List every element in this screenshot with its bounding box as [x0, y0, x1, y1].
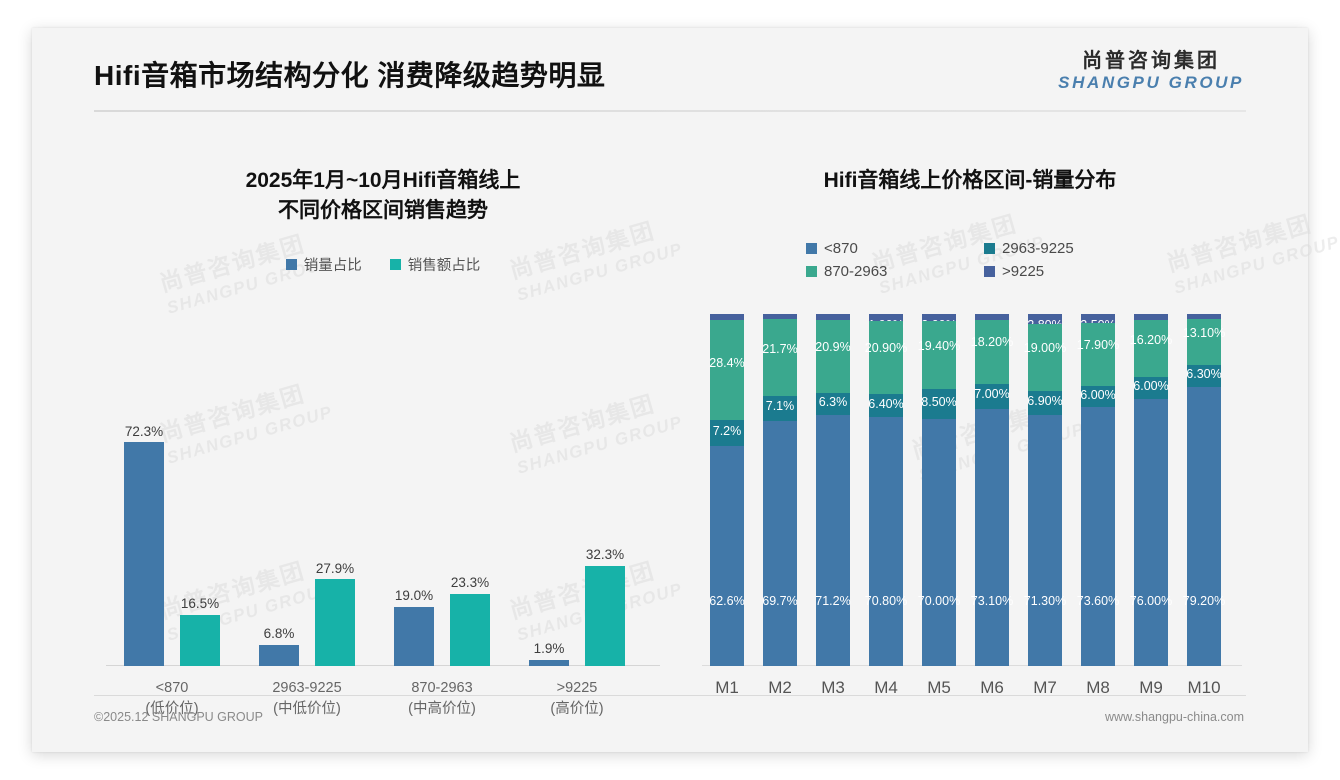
segment-value-label: 6.3%	[819, 395, 848, 409]
segment-2963-9225[interactable]: 8.50%	[922, 389, 956, 419]
segment-value-label: 13.10%	[1183, 326, 1225, 340]
legend-item-gt9225[interactable]: >9225	[984, 263, 1134, 280]
segment-value-label: 17.90%	[1077, 338, 1119, 352]
bar-column[interactable]: 72.3%	[124, 406, 164, 666]
page-title: Hifi音箱市场结构分化 消费降级趋势明显	[94, 54, 605, 94]
legend-swatch-icon	[984, 266, 995, 277]
x-axis-category-sublabel: (中低价位)	[251, 699, 363, 720]
bar-sales-amount[interactable]	[585, 566, 625, 666]
footer-copyright: ©2025.12 SHANGPU GROUP	[94, 710, 263, 724]
slide-header: Hifi音箱市场结构分化 消费降级趋势明显 尚普咨询集团 SHANGPU GRO…	[32, 28, 1308, 116]
right-chart-panel: Hifi音箱线上价格区间-销量分布 <870 2963-9225 870-296…	[694, 136, 1246, 696]
segment-2963-9225[interactable]: 7.00%	[975, 384, 1009, 409]
bar-group: 19.0% 23.3%	[386, 406, 498, 666]
segment-lt870[interactable]: 73.10%	[975, 409, 1009, 666]
segment-value-label: 16.20%	[1130, 333, 1172, 347]
legend-item-870-2963[interactable]: 870-2963	[806, 263, 956, 280]
x-axis-category: >9225 (高价位)	[521, 678, 633, 720]
bar-column[interactable]: 27.9%	[315, 406, 355, 666]
bar-column[interactable]: 16.5%	[180, 406, 220, 666]
segment-value-label: 70.00%	[918, 594, 960, 608]
bar-group: 72.3% 16.5%	[116, 406, 228, 666]
segment-value-label: 76.00%	[1130, 594, 1172, 608]
segment-value-label: 7.2%	[713, 424, 742, 438]
segment-870-2963[interactable]: 19.40%	[922, 321, 956, 389]
segment-value-label: 19.00%	[1024, 341, 1066, 355]
left-chart-title-line2: 不同价格区间销售趋势	[94, 196, 672, 226]
segment-2963-9225[interactable]: 6.90%	[1028, 391, 1062, 415]
legend-label: 870-2963	[824, 263, 887, 280]
bar-column[interactable]: 6.8%	[259, 406, 299, 666]
segment-gt9225[interactable]: 2.00%	[922, 314, 956, 321]
stacked-bar[interactable]: 2.00% 19.40% 8.50% 70.00%	[922, 314, 956, 666]
bar-sales-volume[interactable]	[259, 645, 299, 666]
brand-logo: 尚普咨询集团 SHANGPU GROUP	[1058, 50, 1244, 93]
bar-value-label: 6.8%	[264, 626, 295, 641]
legend-item-lt870[interactable]: <870	[806, 240, 956, 257]
bar-value-label: 32.3%	[586, 547, 624, 562]
segment-value-label: 20.9%	[815, 340, 850, 354]
logo-english-text: SHANGPU GROUP	[1058, 73, 1244, 93]
segment-value-label: 71.2%	[815, 594, 850, 608]
segment-870-2963[interactable]: 18.20%	[975, 320, 1009, 384]
segment-lt870[interactable]: 73.60%	[1081, 407, 1115, 666]
segment-2963-9225[interactable]: 6.40%	[869, 394, 903, 417]
left-chart-panel: 2025年1月~10月Hifi音箱线上 不同价格区间销售趋势 销量占比 销售额占…	[94, 136, 672, 696]
left-chart-title: 2025年1月~10月Hifi音箱线上 不同价格区间销售趋势	[94, 136, 672, 226]
segment-value-label: 6.00%	[1080, 388, 1115, 402]
legend-swatch-icon	[984, 243, 995, 254]
legend-item-2963-9225[interactable]: 2963-9225	[984, 240, 1134, 257]
segment-2963-9225[interactable]: 6.00%	[1081, 386, 1115, 407]
left-chart-legend: 销量占比 销售额占比	[94, 254, 672, 275]
segment-2963-9225[interactable]: 6.00%	[1134, 377, 1168, 398]
segment-870-2963[interactable]: 20.90%	[869, 321, 903, 395]
bar-sales-amount[interactable]	[180, 615, 220, 666]
right-chart-legend: <870 2963-9225 870-2963 >9225	[694, 240, 1246, 280]
stacked-bar[interactable]: 1.6% 20.9% 6.3% 71.2%	[816, 314, 850, 666]
legend-label: 销量占比	[304, 254, 362, 275]
stacked-bar[interactable]: 2.50% 17.90% 6.00% 73.60%	[1081, 314, 1115, 666]
right-chart-title-line1: Hifi音箱线上价格区间-销量分布	[824, 169, 1117, 192]
bar-column[interactable]: 1.9%	[529, 406, 569, 666]
segment-value-label: 6.90%	[1027, 394, 1062, 408]
segment-lt870[interactable]: 62.6%	[710, 446, 744, 666]
segment-value-label: 18.20%	[971, 335, 1013, 349]
segment-lt870[interactable]: 71.2%	[816, 415, 850, 666]
segment-2963-9225[interactable]: 7.1%	[763, 396, 797, 421]
bar-column[interactable]: 19.0%	[394, 406, 434, 666]
segment-lt870[interactable]: 70.80%	[869, 417, 903, 666]
stacked-bar[interactable]: 1.70% 18.20% 7.00% 73.10%	[975, 314, 1009, 666]
legend-label: <870	[824, 240, 858, 257]
segment-value-label: 71.30%	[1024, 594, 1066, 608]
segment-lt870[interactable]: 79.20%	[1187, 387, 1221, 666]
segment-value-label: 21.7%	[762, 342, 797, 356]
left-chart-title-line1: 2025年1月~10月Hifi音箱线上	[246, 169, 521, 192]
legend-swatch-icon	[806, 243, 817, 254]
segment-lt870[interactable]: 71.30%	[1028, 415, 1062, 666]
bar-value-label: 23.3%	[451, 575, 489, 590]
bar-sales-amount[interactable]	[315, 579, 355, 666]
segment-value-label: 7.1%	[766, 399, 795, 413]
stacked-bar[interactable]: 1.8% 28.4% 7.2% 62.6%	[710, 314, 744, 666]
segment-lt870[interactable]: 70.00%	[922, 419, 956, 666]
segment-gt9225[interactable]: 2.80%	[1028, 314, 1062, 324]
bar-sales-volume[interactable]	[529, 660, 569, 666]
logo-chinese-text: 尚普咨询集团	[1058, 50, 1244, 73]
segment-value-label: 28.4%	[709, 356, 744, 370]
segment-value-label: 19.40%	[918, 339, 960, 353]
legend-item-sales-amount[interactable]: 销售额占比	[390, 254, 481, 275]
bar-sales-volume[interactable]	[394, 607, 434, 666]
segment-870-2963[interactable]: 21.7%	[763, 319, 797, 395]
segment-870-2963[interactable]: 17.90%	[1081, 323, 1115, 386]
segment-value-label: 7.00%	[974, 387, 1009, 401]
segment-value-label: 20.90%	[865, 341, 907, 355]
stacked-bar[interactable]: 2.80% 19.00% 6.90% 71.30%	[1028, 314, 1062, 666]
segment-gt9225[interactable]: 1.90%	[869, 314, 903, 321]
segment-value-label: 79.20%	[1183, 594, 1225, 608]
segment-gt9225[interactable]: 2.50%	[1081, 314, 1115, 323]
legend-label: 2963-9225	[1002, 240, 1074, 257]
segment-value-label: 8.50%	[921, 395, 956, 409]
segment-value-label: 70.80%	[865, 594, 907, 608]
bar-value-label: 27.9%	[316, 561, 354, 576]
legend-item-sales-volume[interactable]: 销量占比	[286, 254, 362, 275]
bar-value-label: 19.0%	[395, 588, 433, 603]
header-divider	[94, 110, 1246, 112]
segment-lt870[interactable]: 76.00%	[1134, 399, 1168, 667]
segment-870-2963[interactable]: 19.00%	[1028, 324, 1062, 391]
left-chart-plot-area: 72.3% 16.5% <870 (低价位) 6.8%	[106, 406, 660, 666]
stacked-bar[interactable]: 1.90% 20.90% 6.40% 70.80%	[869, 314, 903, 666]
bar-sales-volume[interactable]	[124, 442, 164, 666]
bar-value-label: 16.5%	[181, 596, 219, 611]
slide-canvas: Hifi音箱市场结构分化 消费降级趋势明显 尚普咨询集团 SHANGPU GRO…	[32, 28, 1308, 752]
bar-value-label: 1.9%	[534, 641, 565, 656]
segment-870-2963[interactable]: 16.20%	[1134, 320, 1168, 377]
legend-swatch-icon	[390, 259, 401, 270]
stacked-bar[interactable]: 1.40% 13.10% 6.30% 79.20%	[1187, 314, 1221, 666]
bar-column[interactable]: 32.3%	[585, 406, 625, 666]
legend-swatch-icon	[806, 266, 817, 277]
segment-870-2963[interactable]: 20.9%	[816, 320, 850, 394]
segment-2963-9225[interactable]: 6.3%	[816, 393, 850, 415]
segment-value-label: 6.30%	[1186, 367, 1221, 381]
x-axis-category: 870-2963 (中高价位)	[386, 678, 498, 720]
segment-value-label: 69.7%	[762, 594, 797, 608]
x-axis-category: 2963-9225 (中低价位)	[251, 678, 363, 720]
segment-2963-9225[interactable]: 6.30%	[1187, 365, 1221, 387]
legend-swatch-icon	[286, 259, 297, 270]
segment-value-label: 6.40%	[868, 397, 903, 411]
bar-group: 1.9% 32.3%	[521, 406, 633, 666]
stacked-bar[interactable]: 1.5% 21.7% 7.1% 69.7%	[763, 314, 797, 666]
stacked-bar[interactable]: 1.80% 16.20% 6.00% 76.00%	[1134, 314, 1168, 666]
x-axis-category-sublabel: (中高价位)	[386, 699, 498, 720]
right-chart-title: Hifi音箱线上价格区间-销量分布	[694, 136, 1246, 196]
bar-group: 6.8% 27.9%	[251, 406, 363, 666]
footer-website: www.shangpu-china.com	[1105, 710, 1244, 724]
bar-sales-amount[interactable]	[450, 594, 490, 666]
segment-2963-9225[interactable]: 7.2%	[710, 420, 744, 445]
right-chart-plot-area: 1.8% 28.4% 7.2% 62.6% M1 1.5% 21	[702, 314, 1242, 666]
footer-divider	[94, 695, 1246, 696]
bar-value-label: 72.3%	[125, 424, 163, 439]
segment-lt870[interactable]: 69.7%	[763, 421, 797, 666]
x-axis-category-sublabel: (高价位)	[521, 699, 633, 720]
segment-value-label: 73.60%	[1077, 594, 1119, 608]
segment-value-label: 73.10%	[971, 594, 1013, 608]
segment-value-label: 62.6%	[709, 594, 744, 608]
bar-column[interactable]: 23.3%	[450, 406, 490, 666]
segment-value-label: 6.00%	[1133, 379, 1168, 393]
legend-label: >9225	[1002, 263, 1044, 280]
segment-870-2963[interactable]: 28.4%	[710, 320, 744, 420]
segment-870-2963[interactable]: 13.10%	[1187, 319, 1221, 365]
legend-label: 销售额占比	[408, 254, 481, 275]
